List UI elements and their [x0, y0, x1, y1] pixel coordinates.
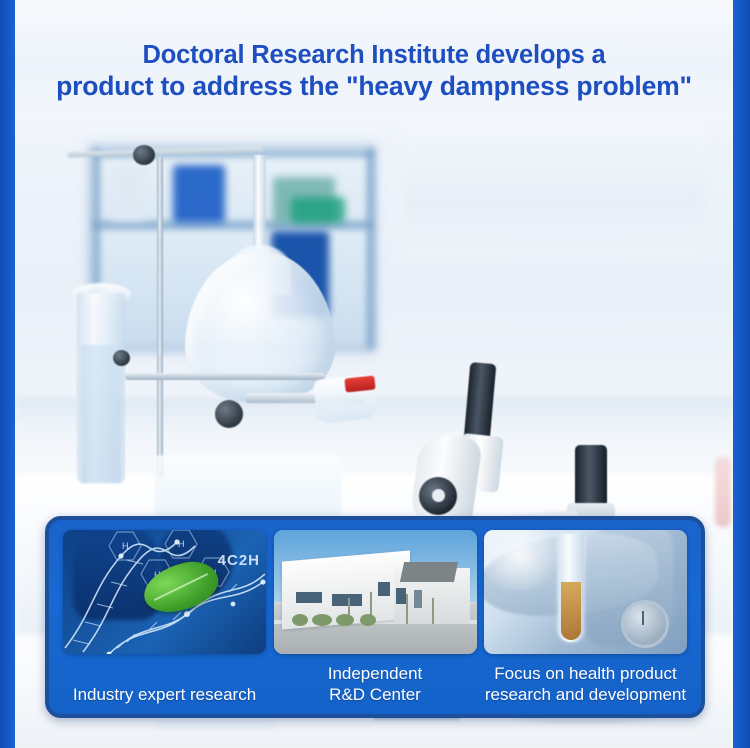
window: [296, 592, 322, 603]
instrument-dial: [621, 600, 669, 648]
stand-knob-mid: [113, 350, 130, 366]
reagent-bottle-white: [111, 165, 147, 221]
page-title: Doctoral Research Institute develops a p…: [15, 40, 733, 102]
feature-item-industry-expert-research[interactable]: HH HH 4C2H Industry expert research: [63, 530, 266, 705]
banner-canvas: Doctoral Research Institute develops a p…: [15, 0, 733, 748]
stand-knob-main: [215, 400, 243, 428]
test-tube-sample-photo[interactable]: [484, 530, 687, 654]
leaf-dna-research-photo[interactable]: HH HH 4C2H: [63, 530, 266, 654]
feature-caption-3-line1: Focus on health product: [494, 664, 676, 683]
feature-item-health-product-research[interactable]: Focus on health product research and dev…: [484, 530, 687, 705]
feature-item-rd-center[interactable]: Independent R&D Center: [274, 530, 477, 705]
left-blue-rail: [0, 0, 15, 748]
glass-wall-panel: [405, 125, 705, 255]
rd-center-building-photo[interactable]: [274, 530, 477, 654]
amber-sample-liquid: [561, 582, 581, 640]
feature-caption-2-line2: R&D Center: [329, 685, 421, 704]
shrub: [312, 614, 332, 626]
reagent-bottle-blue: [173, 165, 225, 223]
window: [396, 588, 406, 604]
stand-vertical-rod: [157, 157, 163, 477]
tree: [406, 594, 408, 624]
feature-card: HH HH 4C2H Industry expert research: [45, 516, 705, 718]
feature-caption-1: Industry expert research: [63, 684, 266, 705]
title-line-2: product to address the "heavy dampness p…: [15, 71, 733, 102]
stand-cross-arm: [125, 373, 325, 380]
window: [378, 582, 390, 596]
feature-caption-3: Focus on health product research and dev…: [484, 663, 687, 705]
feature-caption-2: Independent R&D Center: [274, 663, 477, 705]
reagent-bottle-green: [291, 197, 345, 223]
cylinder-liquid: [81, 345, 121, 483]
microscope-front-eyepiece: [575, 445, 607, 509]
stand-knob-top: [133, 145, 155, 165]
shrub: [360, 614, 376, 626]
feature-caption-3-line2: research and development: [485, 685, 686, 704]
window: [332, 594, 362, 606]
pink-reagent-vial: [715, 457, 731, 527]
window: [414, 590, 422, 608]
tree: [432, 598, 434, 624]
shrub: [292, 614, 308, 626]
promo-banner: Doctoral Research Institute develops a p…: [0, 0, 750, 748]
header-band: Doctoral Research Institute develops a p…: [15, 0, 733, 120]
title-line-1: Doctoral Research Institute develops a: [143, 41, 606, 69]
svg-text:H: H: [122, 541, 129, 551]
feature-caption-2-line1: Independent: [328, 664, 423, 683]
svg-text:H: H: [178, 539, 185, 549]
light-glare: [484, 530, 564, 590]
shrub: [336, 614, 354, 626]
feature-card-grid: HH HH 4C2H Industry expert research: [49, 530, 701, 705]
building-entrance-roof: [399, 562, 457, 582]
microscope-back-objective: [419, 477, 457, 515]
shelf-post-right: [367, 149, 374, 349]
right-blue-rail: [733, 0, 750, 748]
molecule-label: 4C2H: [218, 552, 260, 569]
